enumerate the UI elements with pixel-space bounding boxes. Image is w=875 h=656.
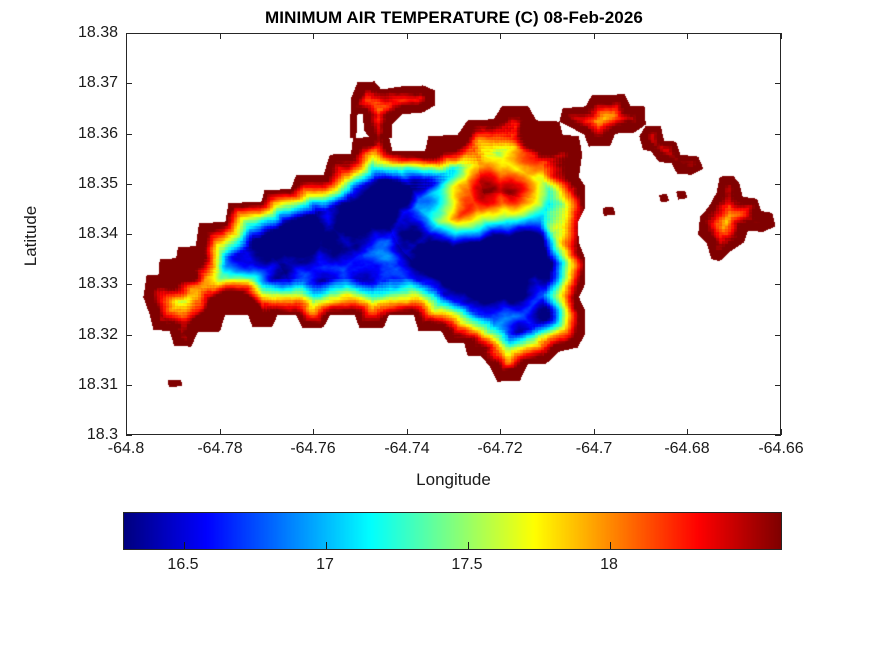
y-tick-mark xyxy=(126,335,132,336)
colorbar-tick-mark xyxy=(184,542,185,549)
y-tick-mark xyxy=(126,83,132,84)
y-tick-mark xyxy=(126,184,132,185)
x-tick-mark xyxy=(594,33,595,39)
colorbar-tick-label: 17.5 xyxy=(451,556,482,574)
x-tick-mark xyxy=(313,429,314,435)
x-tick-mark xyxy=(220,429,221,435)
temperature-heatmap xyxy=(127,34,781,435)
x-tick-label: -64.66 xyxy=(758,440,803,458)
y-tick-mark xyxy=(775,83,781,84)
map-axes xyxy=(126,33,781,435)
y-tick-label: 18.34 xyxy=(78,225,118,243)
x-tick-mark xyxy=(220,33,221,39)
x-axis-label: Longitude xyxy=(126,470,781,490)
y-tick-mark xyxy=(775,284,781,285)
y-tick-label: 18.35 xyxy=(78,175,118,193)
y-tick-mark xyxy=(126,435,132,436)
x-tick-mark xyxy=(594,429,595,435)
y-tick-mark xyxy=(126,134,132,135)
x-tick-mark xyxy=(313,33,314,39)
y-axis-label: Latitude xyxy=(21,136,41,336)
y-tick-mark xyxy=(126,234,132,235)
x-tick-label: -64.72 xyxy=(477,440,522,458)
colorbar xyxy=(123,512,782,550)
y-tick-mark xyxy=(775,335,781,336)
colorbar-tick-mark xyxy=(610,542,611,549)
y-tick-mark xyxy=(126,284,132,285)
colorbar-tick-label: 16.5 xyxy=(167,556,198,574)
x-tick-mark xyxy=(407,429,408,435)
y-axis-tick-labels: 18.3818.3718.3618.3518.3418.3318.3218.31… xyxy=(0,0,118,656)
y-tick-label: 18.3 xyxy=(87,426,118,444)
x-tick-mark xyxy=(781,33,782,39)
y-tick-mark xyxy=(775,385,781,386)
y-tick-mark xyxy=(775,184,781,185)
colorbar-gradient xyxy=(124,513,781,549)
y-tick-mark xyxy=(126,33,132,34)
x-tick-mark xyxy=(500,429,501,435)
chart-title: MINIMUM AIR TEMPERATURE (C) 08-Feb-2026 xyxy=(126,8,782,28)
colorbar-tick-mark xyxy=(468,542,469,549)
colorbar-tick-label: 18 xyxy=(600,556,618,574)
y-tick-label: 18.31 xyxy=(78,376,118,394)
x-tick-label: -64.78 xyxy=(197,440,242,458)
x-tick-mark xyxy=(500,33,501,39)
x-tick-label: -64.68 xyxy=(664,440,709,458)
figure-canvas: MINIMUM AIR TEMPERATURE (C) 08-Feb-2026 … xyxy=(0,0,875,656)
colorbar-tick-label: 17 xyxy=(316,556,334,574)
y-tick-label: 18.33 xyxy=(78,275,118,293)
x-tick-mark xyxy=(687,429,688,435)
y-tick-mark xyxy=(775,134,781,135)
y-tick-mark xyxy=(126,385,132,386)
y-tick-label: 18.38 xyxy=(78,24,118,42)
y-tick-mark xyxy=(775,33,781,34)
x-tick-label: -64.74 xyxy=(384,440,429,458)
x-tick-mark xyxy=(687,33,688,39)
x-tick-label: -64.76 xyxy=(290,440,335,458)
y-tick-mark xyxy=(775,234,781,235)
x-tick-mark xyxy=(781,429,782,435)
y-tick-label: 18.36 xyxy=(78,125,118,143)
y-tick-label: 18.37 xyxy=(78,74,118,92)
x-tick-label: -64.7 xyxy=(576,440,612,458)
y-tick-mark xyxy=(775,435,781,436)
x-tick-mark xyxy=(407,33,408,39)
y-tick-label: 18.32 xyxy=(78,326,118,344)
colorbar-tick-mark xyxy=(326,542,327,549)
